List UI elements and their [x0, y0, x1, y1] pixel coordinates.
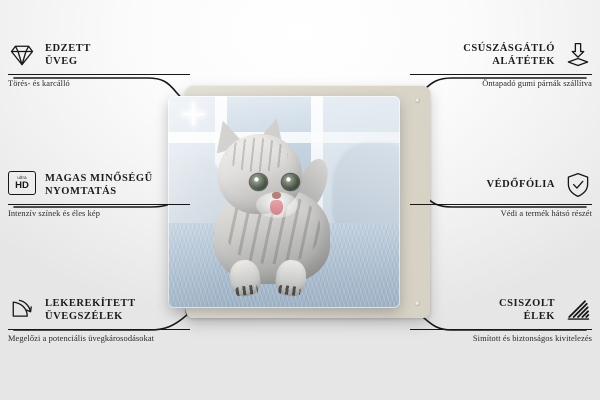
- feature-title: CSÚSZÁSGÁTLÓ ALÁTÉTEK: [463, 42, 555, 69]
- diamond-icon: [8, 41, 36, 69]
- glass-panel: [168, 96, 400, 308]
- feature-polished-edges: CSISZOLT ÉLEK Simított és biztonságos ki…: [410, 293, 592, 344]
- divider: [8, 329, 190, 330]
- pad-press-icon: [564, 41, 592, 69]
- divider: [410, 74, 592, 75]
- hatched-triangle-icon: [564, 296, 592, 324]
- divider: [8, 74, 190, 75]
- feature-title: LEKEREKÍTETT ÜVEGSZÉLEK: [45, 297, 136, 324]
- feature-tempered-glass: EDZETT ÜVEG Törés- és karcálló: [8, 38, 190, 89]
- feature-rounded-edges: LEKEREKÍTETT ÜVEGSZÉLEK Megelőzi a poten…: [8, 293, 190, 344]
- feature-subtitle: Törés- és karcálló: [8, 78, 190, 89]
- feature-subtitle: Intenzív színek és éles kép: [8, 208, 190, 219]
- feature-title: MAGAS MINŐSÉGŰ NYOMTATÁS: [45, 172, 153, 199]
- feature-antislip-pads: CSÚSZÁSGÁTLÓ ALÁTÉTEK Öntapadó gumi párn…: [410, 38, 592, 89]
- shield-check-icon: [564, 171, 592, 199]
- feature-hd-print: ultra HD MAGAS MINŐSÉGŰ NYOMTATÁS Intenz…: [8, 168, 190, 219]
- antislip-pad: [415, 98, 420, 103]
- product-image: [168, 86, 430, 318]
- divider: [410, 329, 592, 330]
- kitten-photo: [168, 96, 400, 308]
- feature-subtitle: Megelőzi a potenciális üvegkárosodásokat: [8, 333, 190, 344]
- rounded-corner-icon: [8, 296, 36, 324]
- divider: [410, 204, 592, 205]
- feature-subtitle: Védi a termék hátsó részét: [410, 208, 592, 219]
- hd-badge-main-text: HD: [15, 181, 29, 191]
- infographic-canvas: EDZETT ÜVEG Törés- és karcálló ultra HD …: [0, 0, 600, 400]
- feature-subtitle: Simított és biztonságos kivitelezés: [410, 333, 592, 344]
- feature-protective-film: VÉDŐFÓLIA Védi a termék hátsó részét: [410, 168, 592, 219]
- feature-title: VÉDŐFÓLIA: [486, 178, 555, 191]
- ultra-hd-badge-icon: ultra HD: [8, 171, 36, 199]
- divider: [8, 204, 190, 205]
- feature-title: CSISZOLT ÉLEK: [499, 297, 555, 324]
- feature-title: EDZETT ÜVEG: [45, 42, 91, 69]
- kitten: [196, 118, 346, 298]
- feature-subtitle: Öntapadó gumi párnák szállítva: [410, 78, 592, 89]
